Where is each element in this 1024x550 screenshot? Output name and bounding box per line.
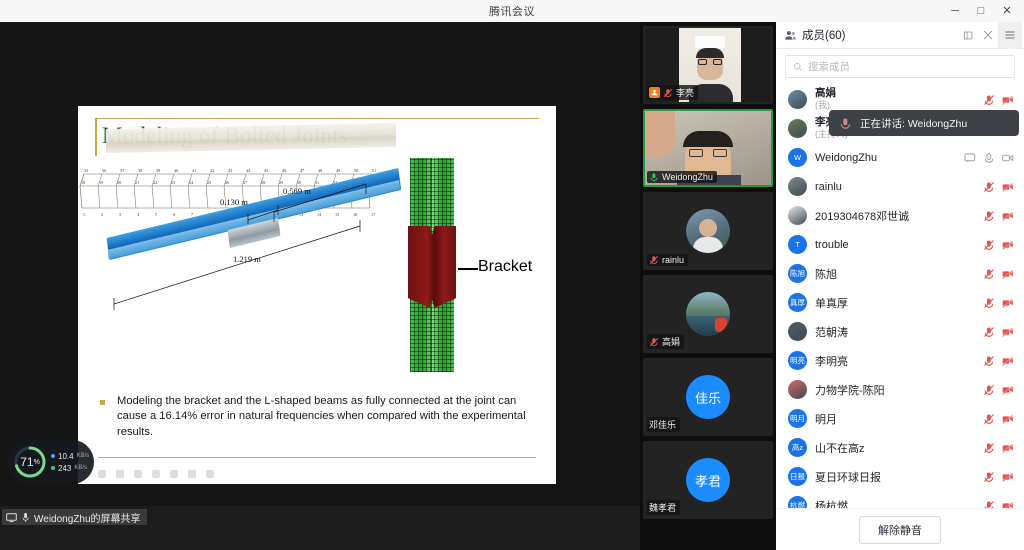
meeting-window: 腾讯会议 ─ □ ✕ Modeling of Bolted Joints [0, 0, 1024, 550]
slide-accent-horizontal [95, 118, 539, 119]
avatar-3 [686, 292, 730, 336]
participant-controls [983, 94, 1014, 106]
popout-icon[interactable] [958, 24, 978, 46]
participant-name: 高娟 [815, 87, 836, 100]
participant-controls [983, 384, 1014, 396]
window-controls: ─ □ ✕ [942, 0, 1020, 22]
participant-row[interactable]: rainlu [776, 172, 1024, 201]
mic-icon[interactable] [983, 152, 995, 164]
close-icon[interactable] [978, 24, 998, 46]
cpu-percent-unit: % [34, 459, 40, 466]
participant-controls [964, 152, 1014, 164]
participants-header: 成员(60) [776, 22, 1024, 49]
video-tile-0[interactable]: 李亮 [643, 26, 773, 104]
participant-row[interactable]: Ttrouble [776, 230, 1024, 259]
participant-controls [983, 239, 1014, 251]
video-tile-3[interactable]: 高娟 [643, 275, 773, 353]
participant-row[interactable]: 杭燃杨杭燃 [776, 491, 1024, 508]
participants-footer: 解除静音 [776, 508, 1024, 550]
download-speed-value: 243 [58, 464, 71, 473]
unmute-button[interactable]: 解除静音 [859, 516, 941, 544]
tile-name-chip-2: rainlu [647, 254, 688, 266]
mic-muted-icon[interactable] [983, 94, 995, 106]
upload-speed-row: 10.4 KB/s [51, 452, 89, 461]
participant-row[interactable]: 高z山不在高z [776, 433, 1024, 462]
slide-bullet: Modeling the bracket and the L-shaped be… [100, 394, 540, 440]
mic-muted-icon[interactable] [983, 384, 995, 396]
dimension-label-1: 0.130 m [220, 197, 248, 207]
share-status-bar: WeidongZhu的屏幕共享 [0, 506, 640, 528]
host-icon-0 [649, 87, 660, 98]
cpu-percent-value: 71% [12, 444, 48, 480]
presentation-slide: Modeling of Bolted Joints [78, 106, 556, 484]
participant-avatar: 陈旭 [788, 264, 807, 283]
camera-off-icon[interactable] [1002, 94, 1014, 106]
shared-screen-stage[interactable]: Modeling of Bolted Joints [0, 22, 640, 528]
camera-off-icon[interactable] [1002, 500, 1014, 509]
participant-name: 范朝涛 [815, 324, 848, 340]
tile-name-chip-1: WeidongZhu [647, 171, 717, 183]
participant-controls [983, 297, 1014, 309]
ppt-nav-dot[interactable] [134, 470, 142, 478]
network-stats: 10.4 KB/s 243 KB/s [51, 452, 89, 473]
people-icon [784, 29, 797, 42]
search-placeholder: 搜索成员 [808, 59, 850, 74]
tile-name-chip-3: 高娟 [647, 334, 684, 349]
bracket-leader-line [458, 268, 478, 270]
speaking-tooltip: 正在讲话: WeidongZhu [829, 110, 1019, 136]
participant-avatar: T [788, 235, 807, 254]
mic-muted-icon[interactable] [983, 500, 995, 509]
upload-speed-value: 10.4 [58, 452, 74, 461]
participant-controls [983, 210, 1014, 222]
microphone-icon [21, 512, 30, 523]
mic-muted-icon[interactable] [983, 239, 995, 251]
participant-avatar: 杭燃 [788, 496, 807, 508]
participant-avatar [788, 90, 807, 109]
specimen-photo [106, 123, 396, 153]
participant-row[interactable]: 陈旭陈旭 [776, 259, 1024, 288]
camera-off-icon[interactable] [1002, 355, 1014, 367]
monitor-icon [6, 512, 17, 523]
participants-panel: 成员(60) [776, 22, 1024, 550]
participant-name: 夏日环球日报 [815, 469, 881, 485]
participant-avatar: 明月 [788, 409, 807, 428]
camera-off-icon[interactable] [1002, 181, 1014, 193]
maximize-button[interactable]: □ [968, 0, 994, 22]
avatar-4: 佳乐 [686, 375, 730, 419]
participant-name: 杨杭燃 [815, 498, 848, 509]
download-dot-icon [51, 466, 55, 470]
participant-controls [983, 413, 1014, 425]
search-input[interactable]: 搜索成员 [785, 55, 1015, 78]
ppt-nav-dot[interactable] [206, 470, 214, 478]
minimize-button[interactable]: ─ [942, 0, 968, 22]
cpu-percent-number: 71 [20, 455, 33, 469]
camera-off-icon[interactable] [1002, 297, 1014, 309]
participant-name: 陈旭 [815, 266, 837, 282]
participant-avatar [788, 119, 807, 138]
download-speed-row: 243 KB/s [51, 464, 89, 473]
dimension-lines [78, 164, 418, 382]
video-tile-4[interactable]: 佳乐 邓佳乐 [643, 358, 773, 436]
tile-name-2: rainlu [662, 255, 684, 265]
dimension-label-2: 1.219 m [233, 254, 261, 264]
mic-muted-icon[interactable] [983, 442, 995, 454]
video-tile-5[interactable]: 孝君 魏孝君 [643, 441, 773, 519]
participant-row[interactable]: 明月明月 [776, 404, 1024, 433]
tile-name-3: 高娟 [662, 335, 680, 348]
participant-controls [983, 355, 1014, 367]
ppt-nav-dot[interactable] [116, 470, 124, 478]
participant-controls [983, 181, 1014, 193]
participant-avatar: 明亮 [788, 351, 807, 370]
camera-off-icon[interactable] [1002, 239, 1014, 251]
camera-off-icon[interactable] [1002, 326, 1014, 338]
participant-avatar: 高z [788, 438, 807, 457]
mic-muted-icon[interactable] [983, 181, 995, 193]
camera-off-icon[interactable] [1002, 471, 1014, 483]
mic-muted-icon[interactable] [983, 355, 995, 367]
mic-muted-icon[interactable] [983, 297, 995, 309]
bracket-part [408, 226, 456, 308]
participant-row[interactable]: 2019304678邓世诚 [776, 201, 1024, 230]
participant-avatar [788, 177, 807, 196]
ppt-nav-dot[interactable] [170, 470, 178, 478]
mic-muted-icon[interactable] [983, 471, 995, 483]
tile-name-chip-4: 邓佳乐 [647, 417, 680, 432]
participant-row[interactable]: 范朝涛 [776, 317, 1024, 346]
participant-row[interactable]: WWeidongZhu [776, 143, 1024, 172]
participant-name: 2019304678邓世诚 [815, 208, 909, 224]
participant-avatar: 真厚 [788, 293, 807, 312]
share-status-text: WeidongZhu的屏幕共享 [34, 510, 141, 525]
hamburger-icon[interactable] [998, 22, 1022, 49]
camera-off-icon[interactable] [1002, 442, 1014, 454]
mic-active-icon-1 [649, 172, 659, 182]
ppt-nav-dot[interactable] [98, 470, 106, 478]
tile-name-0: 李亮 [676, 86, 694, 99]
camera-off-icon[interactable] [1002, 210, 1014, 222]
slide-bullet-text: Modeling the bracket and the L-shaped be… [117, 394, 540, 440]
participant-avatar [788, 322, 807, 341]
mic-muted-icon-2 [649, 255, 659, 265]
mic-muted-icon[interactable] [983, 413, 995, 425]
slide-accent-vertical [95, 118, 97, 156]
cpu-ring-gauge: 71% [12, 444, 48, 480]
camera-off-icon[interactable] [1002, 413, 1014, 425]
video-tile-1[interactable]: WeidongZhu [643, 109, 773, 187]
tile-name-1: WeidongZhu [662, 172, 713, 182]
participants-title: 成员(60) [802, 27, 845, 43]
participant-controls [983, 326, 1014, 338]
tile-name-4: 邓佳乐 [649, 418, 676, 431]
close-button[interactable]: ✕ [994, 0, 1020, 22]
participant-avatar [788, 380, 807, 399]
participant-avatar: 日报 [788, 467, 807, 486]
search-wrapper: 搜索成员 [776, 49, 1024, 83]
participant-name: 李明亮 [815, 353, 848, 369]
mic-muted-icon[interactable] [983, 268, 995, 280]
participant-name: WeidongZhu [815, 152, 877, 164]
participant-name: 明月 [815, 411, 837, 427]
avatar-2 [686, 209, 730, 253]
participant-list[interactable]: 高娟(我) 李亮(主持人) WWeidongZhu [776, 83, 1024, 508]
ppt-nav-dot[interactable] [188, 470, 196, 478]
upload-speed-unit: KB/s [77, 453, 90, 459]
window-title: 腾讯会议 [489, 3, 535, 19]
ppt-nav-dot[interactable] [152, 470, 160, 478]
video-filmstrip[interactable]: 李亮 WeidongZhu [640, 22, 776, 550]
speaking-tooltip-text: 正在讲话: WeidongZhu [860, 116, 967, 131]
tile-name-chip-0: 李亮 [647, 85, 698, 100]
mic-muted-icon[interactable] [983, 210, 995, 222]
participant-controls [983, 268, 1014, 280]
participant-name: trouble [815, 239, 849, 251]
tile-name-chip-5: 魏孝君 [647, 500, 680, 515]
camera-off-icon[interactable] [1002, 384, 1014, 396]
participant-controls [983, 471, 1014, 483]
network-performance-widget[interactable]: 71% 10.4 KB/s 243 KB/s [8, 440, 94, 484]
share-status-chip: WeidongZhu的屏幕共享 [2, 509, 147, 525]
participant-avatar: W [788, 148, 807, 167]
participant-name: 单真厚 [815, 295, 848, 311]
camera-icon[interactable] [1002, 152, 1014, 164]
participant-row[interactable]: 明亮李明亮 [776, 346, 1024, 375]
bracket-label: Bracket [478, 258, 532, 276]
mic-muted-icon-0 [663, 88, 673, 98]
powerpoint-navigation[interactable] [98, 470, 214, 478]
slide-bottom-rule [98, 457, 536, 458]
participant-controls [983, 500, 1014, 509]
participant-row[interactable]: 真厚单真厚 [776, 288, 1024, 317]
download-speed-unit: KB/s [74, 465, 87, 471]
participant-row[interactable]: 日报夏日环球日报 [776, 462, 1024, 491]
avatar-5: 孝君 [686, 458, 730, 502]
dimension-label-0: 0.569 m [283, 186, 311, 196]
upload-dot-icon [51, 454, 55, 458]
slide-figure: 3536373839404142434445464748495051 18192… [78, 164, 556, 382]
search-icon [793, 62, 803, 72]
participant-name: 山不在高z [815, 440, 865, 456]
chat-icon[interactable] [964, 152, 976, 164]
mic-muted-icon[interactable] [983, 326, 995, 338]
mic-muted-icon-3 [649, 337, 659, 347]
speaking-icon [839, 117, 852, 130]
video-tile-2[interactable]: rainlu [643, 192, 773, 270]
tile-name-5: 魏孝君 [649, 501, 676, 514]
participant-name-block: 高娟(我) [815, 87, 836, 111]
camera-off-icon[interactable] [1002, 268, 1014, 280]
title-bar: 腾讯会议 ─ □ ✕ [0, 0, 1024, 22]
participant-row[interactable]: 力物学院-陈阳 [776, 375, 1024, 404]
participant-avatar [788, 206, 807, 225]
participant-name: rainlu [815, 181, 842, 193]
bullet-square-icon [100, 400, 105, 405]
participant-name: 力物学院-陈阳 [815, 382, 885, 398]
participant-controls [983, 442, 1014, 454]
